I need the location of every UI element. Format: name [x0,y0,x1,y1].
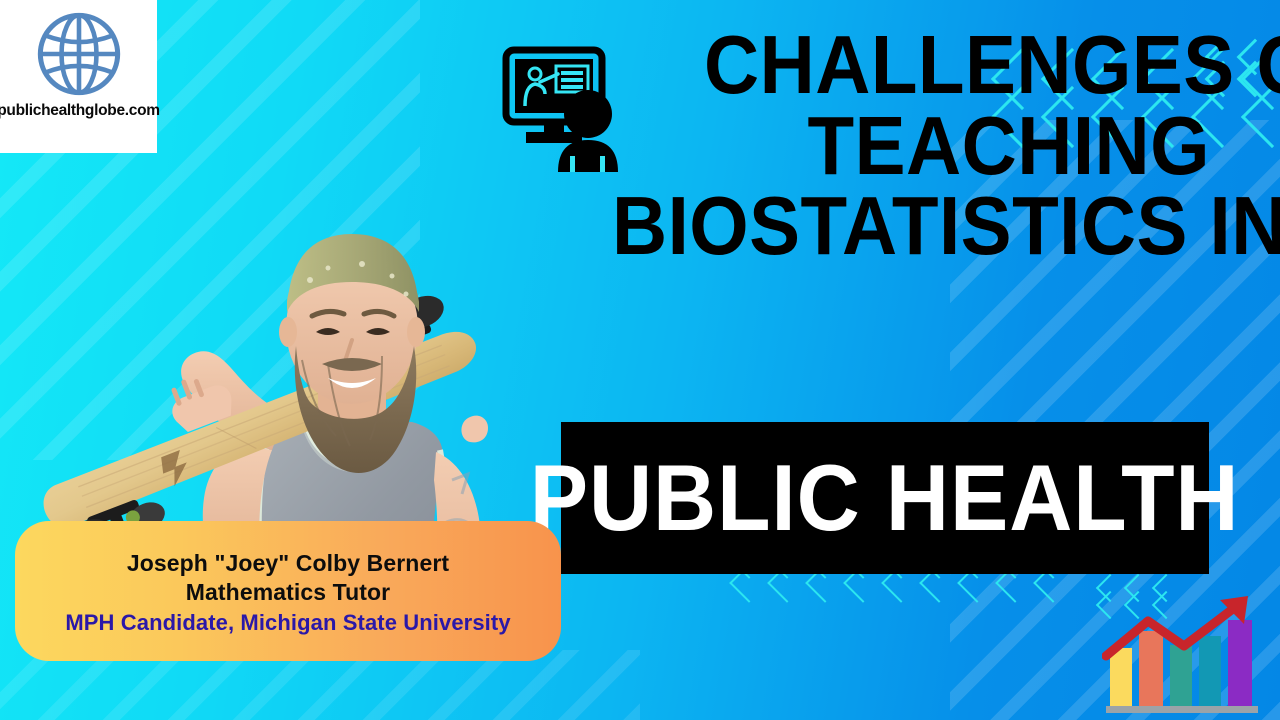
chart-bar [1110,648,1132,706]
chart-bar [1139,631,1163,706]
title-highlight-text: PUBLIC HEALTH [530,451,1240,545]
title-block: CHALLENGES OF TEACHING BIOSTATISTICS IN [560,28,1210,264]
logo-text: publichealthglobe.com [0,102,160,120]
title-highlight-banner: PUBLIC HEALTH [561,422,1209,574]
presenter-credential: MPH Candidate, Michigan State University [65,609,510,638]
title-line-2: TEACHING [612,109,1210,184]
chart-baseline [1106,706,1258,713]
title-line-1: CHALLENGES OF [704,28,1210,103]
presenter-name: Joseph "Joey" Colby Bernert [127,549,449,578]
chart-bar [1199,636,1221,706]
site-logo: publichealthglobe.com [0,0,157,153]
title-line-3: BIOSTATISTICS IN [612,189,1210,264]
presenter-role: Mathematics Tutor [186,578,390,607]
bar-chart-icon [1102,588,1272,713]
globe-icon [33,8,125,100]
chart-bar [1170,645,1192,706]
presenter-name-card: Joseph "Joey" Colby Bernert Mathematics … [15,521,561,661]
chart-bar [1228,620,1252,706]
online-teaching-icon [500,44,630,174]
growth-chart-graphic [1102,588,1272,713]
